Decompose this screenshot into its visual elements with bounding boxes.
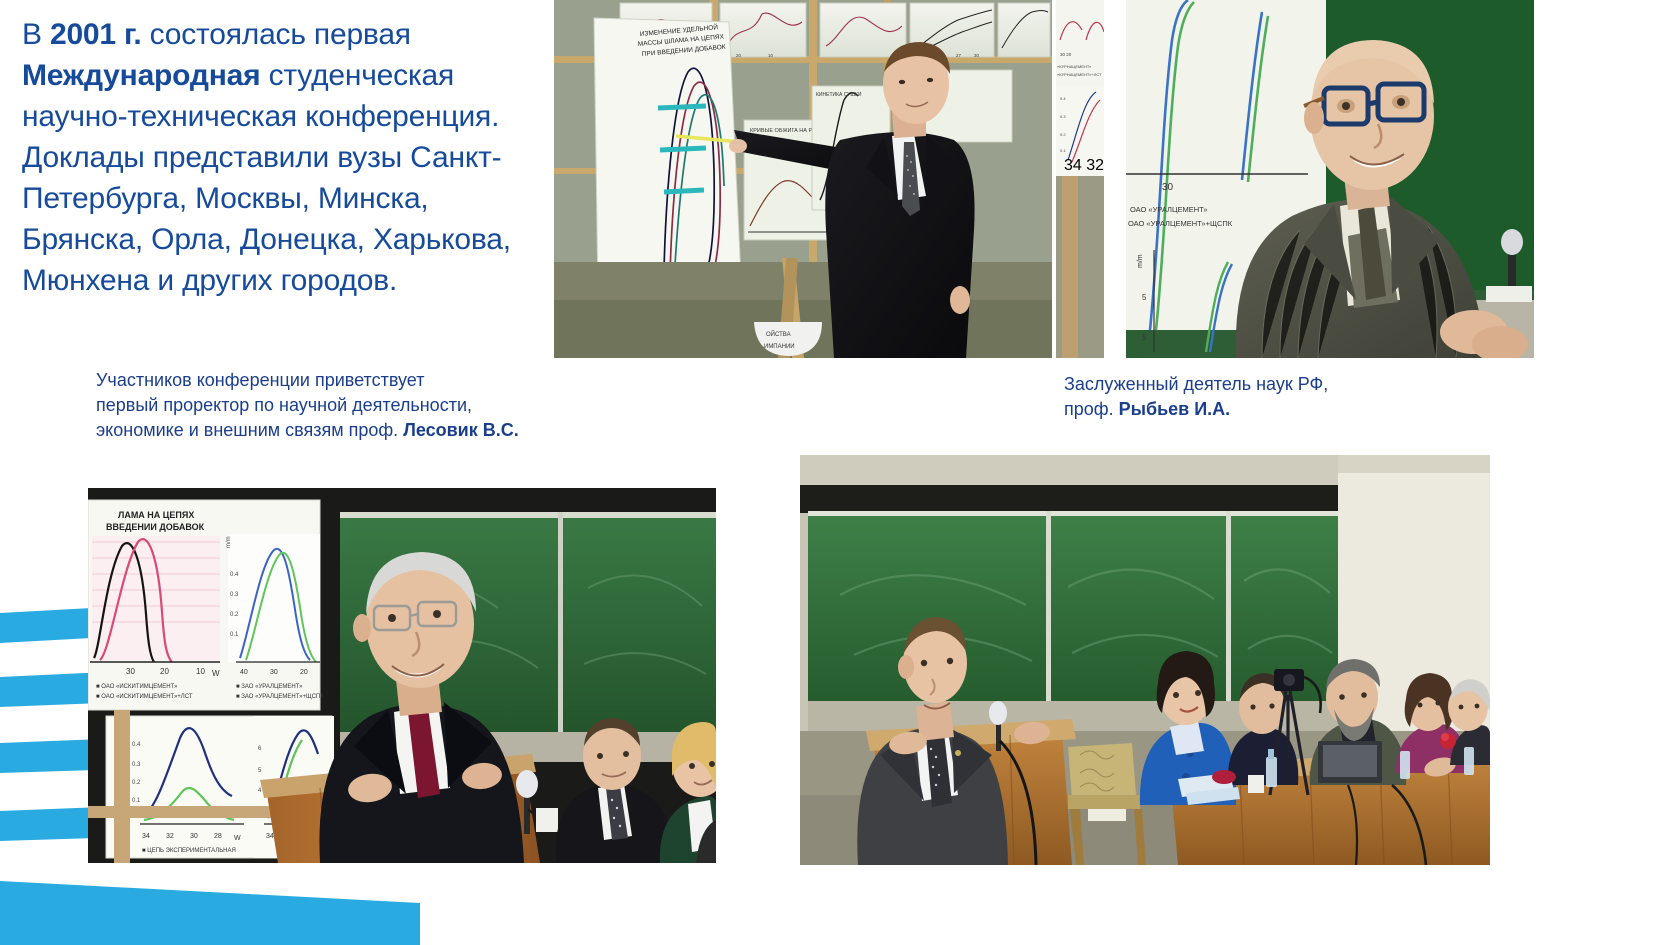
svg-text:■ ЗАО «УРАЛЦЕМЕНТ»+ЩСПК: ■ ЗАО «УРАЛЦЕМЕНТ»+ЩСПК bbox=[236, 694, 324, 700]
svg-text:30: 30 bbox=[190, 833, 198, 840]
svg-text:W: W bbox=[234, 835, 241, 842]
svg-text:ОАО «УРАЛЦЕМЕНТ»+ЩСПК: ОАО «УРАЛЦЕМЕНТ»+ЩСПК bbox=[1128, 219, 1233, 228]
svg-text:40: 40 bbox=[240, 669, 248, 676]
svg-text:m/m: m/m bbox=[226, 536, 232, 548]
photo-rector-art: ЛАМА НА ЦЕПЯХ ВВЕДЕНИИ ДОБАВОК 302010W ■… bbox=[88, 488, 716, 863]
caption-right-line-1: Заслуженный деятель наук РФ, bbox=[1064, 372, 1484, 397]
svg-text:20: 20 bbox=[160, 667, 169, 676]
svg-text:30: 30 bbox=[270, 669, 278, 676]
svg-text:30 20: 30 20 bbox=[1060, 52, 1072, 57]
svg-text:10: 10 bbox=[196, 667, 205, 676]
svg-text:27: 27 bbox=[956, 53, 961, 58]
svg-text:■ ОАО «ИСКИТИМЦЕМЕНТ»: ■ ОАО «ИСКИТИМЦЕМЕНТ» bbox=[96, 684, 178, 690]
caption-left-line-2: первый проректор по научной деятельности… bbox=[96, 393, 566, 418]
headline-line2-rest: студенческая bbox=[260, 59, 454, 92]
headline-international: Международная bbox=[22, 59, 260, 92]
svg-text:34: 34 bbox=[266, 833, 274, 840]
svg-text:20: 20 bbox=[300, 669, 308, 676]
svg-text:0.4: 0.4 bbox=[230, 572, 239, 578]
svg-text:28: 28 bbox=[214, 833, 222, 840]
caption-professor: Заслуженный деятель наук РФ, проф. Рыбье… bbox=[1064, 372, 1484, 422]
svg-text:«КУРНАЦЕМЕНТ»: «КУРНАЦЕМЕНТ» bbox=[1057, 64, 1092, 69]
caption-left-line-1: Участников конференции приветствует bbox=[96, 368, 566, 393]
svg-text:ОАО «УРАЛЦЕМЕНТ»: ОАО «УРАЛЦЕМЕНТ» bbox=[1130, 205, 1208, 214]
svg-text:0.1: 0.1 bbox=[132, 798, 141, 804]
photo-professor-art: 30 20 «КУРНАЦЕМЕНТ» «КУРНАЦЕМЕНТ»+ЛСТ 0.… bbox=[1056, 0, 1534, 358]
caption-vice-rector: Участников конференции приветствует перв… bbox=[96, 368, 566, 443]
headline-line-3: научно-техническая конференция. bbox=[22, 96, 542, 137]
svg-text:10: 10 bbox=[768, 53, 773, 58]
svg-text:5: 5 bbox=[1142, 293, 1147, 302]
svg-text:0.2: 0.2 bbox=[230, 612, 239, 618]
svg-text:0.4: 0.4 bbox=[132, 742, 141, 748]
headline-line-2: Международная студенческая bbox=[22, 55, 542, 96]
svg-text:W: W bbox=[212, 669, 220, 678]
headline-line-7: Мюнхена и других городов. bbox=[22, 260, 542, 301]
headline-line-5: Петербурга, Москвы, Минска, bbox=[22, 178, 542, 219]
headline-year: 2001 г. bbox=[50, 18, 142, 51]
svg-text:ИМПАНИИ: ИМПАНИИ bbox=[764, 344, 795, 350]
caption-right-person-name: Рыбьев И.А. bbox=[1119, 399, 1231, 419]
slide-canvas: В 2001 г. состоялась первая Международна… bbox=[0, 0, 1680, 945]
svg-text:0.2: 0.2 bbox=[1060, 132, 1066, 137]
svg-text:0.3: 0.3 bbox=[1060, 114, 1066, 119]
svg-text:ЛАМА НА ЦЕПЯХ: ЛАМА НА ЦЕПЯХ bbox=[118, 510, 194, 520]
svg-text:«КУРНАЦЕМЕНТ»+ЛСТ: «КУРНАЦЕМЕНТ»+ЛСТ bbox=[1057, 72, 1102, 77]
svg-text:0.3: 0.3 bbox=[230, 592, 239, 598]
svg-text:ОЙСТВА: ОЙСТВА bbox=[766, 330, 791, 338]
svg-text:0.3: 0.3 bbox=[132, 762, 141, 768]
photo-elderly-professor: 30 20 «КУРНАЦЕМЕНТ» «КУРНАЦЕМЕНТ»+ЛСТ 0.… bbox=[1056, 0, 1534, 358]
svg-text:КИНЕТИКА СУШКИ: КИНЕТИКА СУШКИ bbox=[816, 92, 862, 98]
svg-text:30: 30 bbox=[126, 667, 135, 676]
svg-text:30: 30 bbox=[974, 53, 979, 58]
headline-line-6: Брянска, Орла, Донецка, Харькова, bbox=[22, 219, 542, 260]
photo-presenter-art: 21242730 2010 ИЗМЕНЕНИЕ УДЕЛЬНОЙ МАССЫ Ш… bbox=[554, 0, 1052, 358]
svg-text:32: 32 bbox=[166, 833, 174, 840]
caption-left-line3-normal: экономике и внешним связям проф. bbox=[96, 420, 403, 440]
svg-text:34 32: 34 32 bbox=[1064, 157, 1104, 174]
caption-left-line-3: экономике и внешним связям проф. Лесовик… bbox=[96, 418, 566, 443]
svg-text:0.1: 0.1 bbox=[230, 632, 239, 638]
svg-text:m/m: m/m bbox=[1137, 254, 1144, 268]
photo-student-presenting-posters: 21242730 2010 ИЗМЕНЕНИЕ УДЕЛЬНОЙ МАССЫ Ш… bbox=[554, 0, 1052, 358]
headline-line-1: В 2001 г. состоялась первая bbox=[22, 14, 542, 55]
svg-text:ВВЕДЕНИИ ДОБАВОК: ВВЕДЕНИИ ДОБАВОК bbox=[106, 522, 205, 532]
svg-text:34: 34 bbox=[142, 833, 150, 840]
headline-prefix: В bbox=[22, 18, 50, 51]
svg-text:0.4: 0.4 bbox=[1060, 96, 1066, 101]
headline-line1-rest: состоялась первая bbox=[141, 18, 410, 51]
svg-text:30: 30 bbox=[1162, 182, 1174, 193]
svg-text:■ ОАО «ИСКИТИМЦЕМЕНТ»+ЛСТ: ■ ОАО «ИСКИТИМЦЕМЕНТ»+ЛСТ bbox=[96, 694, 193, 700]
svg-text:20: 20 bbox=[736, 53, 741, 58]
caption-right-line-2: проф. Рыбьев И.А. bbox=[1064, 397, 1484, 422]
svg-text:0.2: 0.2 bbox=[132, 780, 141, 786]
photo-student-speaker-panel bbox=[800, 455, 1490, 865]
headline-line-4: Доклады представили вузы Санкт- bbox=[22, 137, 542, 178]
page-title: В 2001 г. состоялась первая Международна… bbox=[22, 14, 542, 301]
stripe-5 bbox=[0, 881, 420, 945]
caption-left-person-name: Лесовик В.С. bbox=[403, 420, 519, 440]
svg-text:■ ЦЕПЬ ЭКСПЕРИМЕНТАЛЬНАЯ: ■ ЦЕПЬ ЭКСПЕРИМЕНТАЛЬНАЯ bbox=[142, 848, 236, 854]
photo-vice-rector-podium: ЛАМА НА ЦЕПЯХ ВВЕДЕНИИ ДОБАВОК 302010W ■… bbox=[88, 488, 716, 863]
caption-right-line2-normal: проф. bbox=[1064, 399, 1119, 419]
svg-text:■ ЗАО «УРАЛЦЕМЕНТ»: ■ ЗАО «УРАЛЦЕМЕНТ» bbox=[236, 684, 303, 690]
photo-audience-art bbox=[800, 455, 1490, 865]
svg-text:5: 5 bbox=[1142, 333, 1147, 342]
svg-text:0.1: 0.1 bbox=[1060, 148, 1066, 153]
